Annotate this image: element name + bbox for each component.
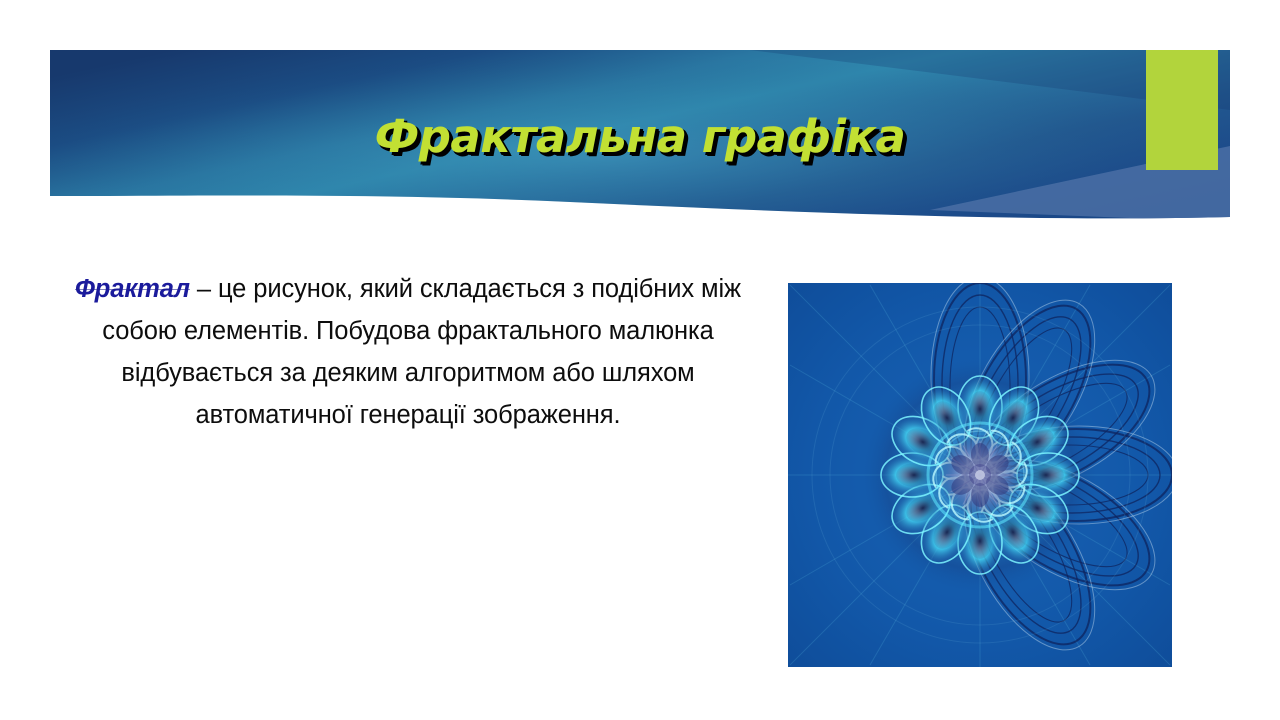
body-paragraph: Фрактал – це рисунок, який складається з… [58, 268, 758, 436]
lead-term: Фрактал [75, 275, 190, 303]
body-text: – це рисунок, який складається з подібни… [102, 275, 741, 429]
slide-canvas: Фрактальна графіка Фрактал – це рисунок,… [0, 0, 1280, 720]
fractal-mandala-image [788, 283, 1172, 667]
page-title: Фрактальна графіка [50, 112, 1230, 162]
fractal-mandala-graphic [788, 283, 1172, 667]
